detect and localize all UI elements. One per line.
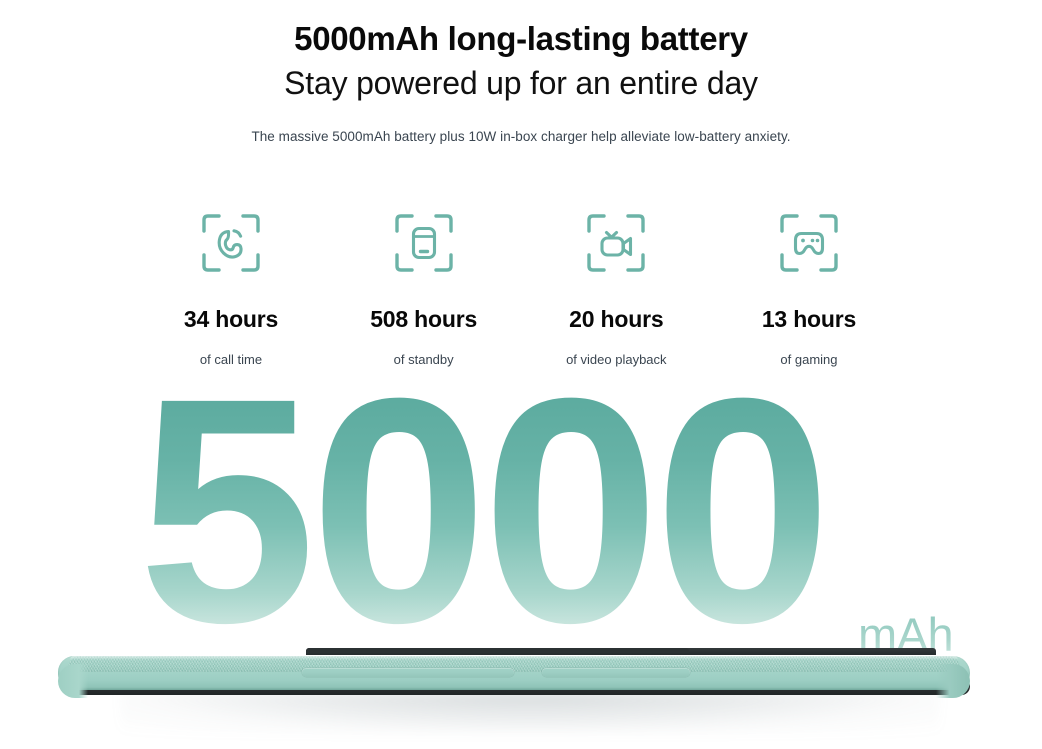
stat-item-video-playback: 20 hours of video playback	[520, 206, 712, 367]
call-frame-icon	[135, 206, 327, 280]
stat-label: of video playback	[520, 352, 712, 367]
phone-right-edge	[936, 664, 970, 698]
stat-label: of gaming	[713, 352, 905, 367]
stat-value: 13 hours	[713, 306, 905, 333]
phone-edge-highlight	[70, 656, 958, 660]
phone-left-edge	[58, 664, 88, 698]
stat-value: 508 hours	[328, 306, 520, 333]
phone-body	[58, 656, 970, 690]
stat-item-call-time: 34 hours of call time	[135, 206, 327, 367]
stat-item-gaming: 13 hours of gaming	[713, 206, 905, 367]
phone-volume-button	[302, 668, 514, 677]
battery-stats-row: 34 hours of call time 508 hours of stand…	[135, 206, 905, 367]
phone-power-button	[542, 668, 690, 677]
smartphone-side-profile	[58, 648, 970, 700]
phone-screen-edge-upper	[306, 648, 689, 653]
stat-label: of standby	[328, 352, 520, 367]
hero-header: 5000mAh long-lasting battery Stay powere…	[0, 0, 1042, 144]
stat-value: 20 hours	[520, 306, 712, 333]
page-title: 5000mAh long-lasting battery	[0, 0, 1042, 59]
stat-item-standby: 508 hours of standby	[328, 206, 520, 367]
stat-value: 34 hours	[135, 306, 327, 333]
video-camera-frame-icon	[520, 206, 712, 280]
product-image-stage	[0, 626, 1042, 749]
gamepad-frame-icon	[713, 206, 905, 280]
page-description: The massive 5000mAh battery plus 10W in-…	[0, 103, 1042, 144]
page-subtitle: Stay powered up for an entire day	[0, 59, 1042, 103]
stat-label: of call time	[135, 352, 327, 367]
standby-device-frame-icon	[328, 206, 520, 280]
